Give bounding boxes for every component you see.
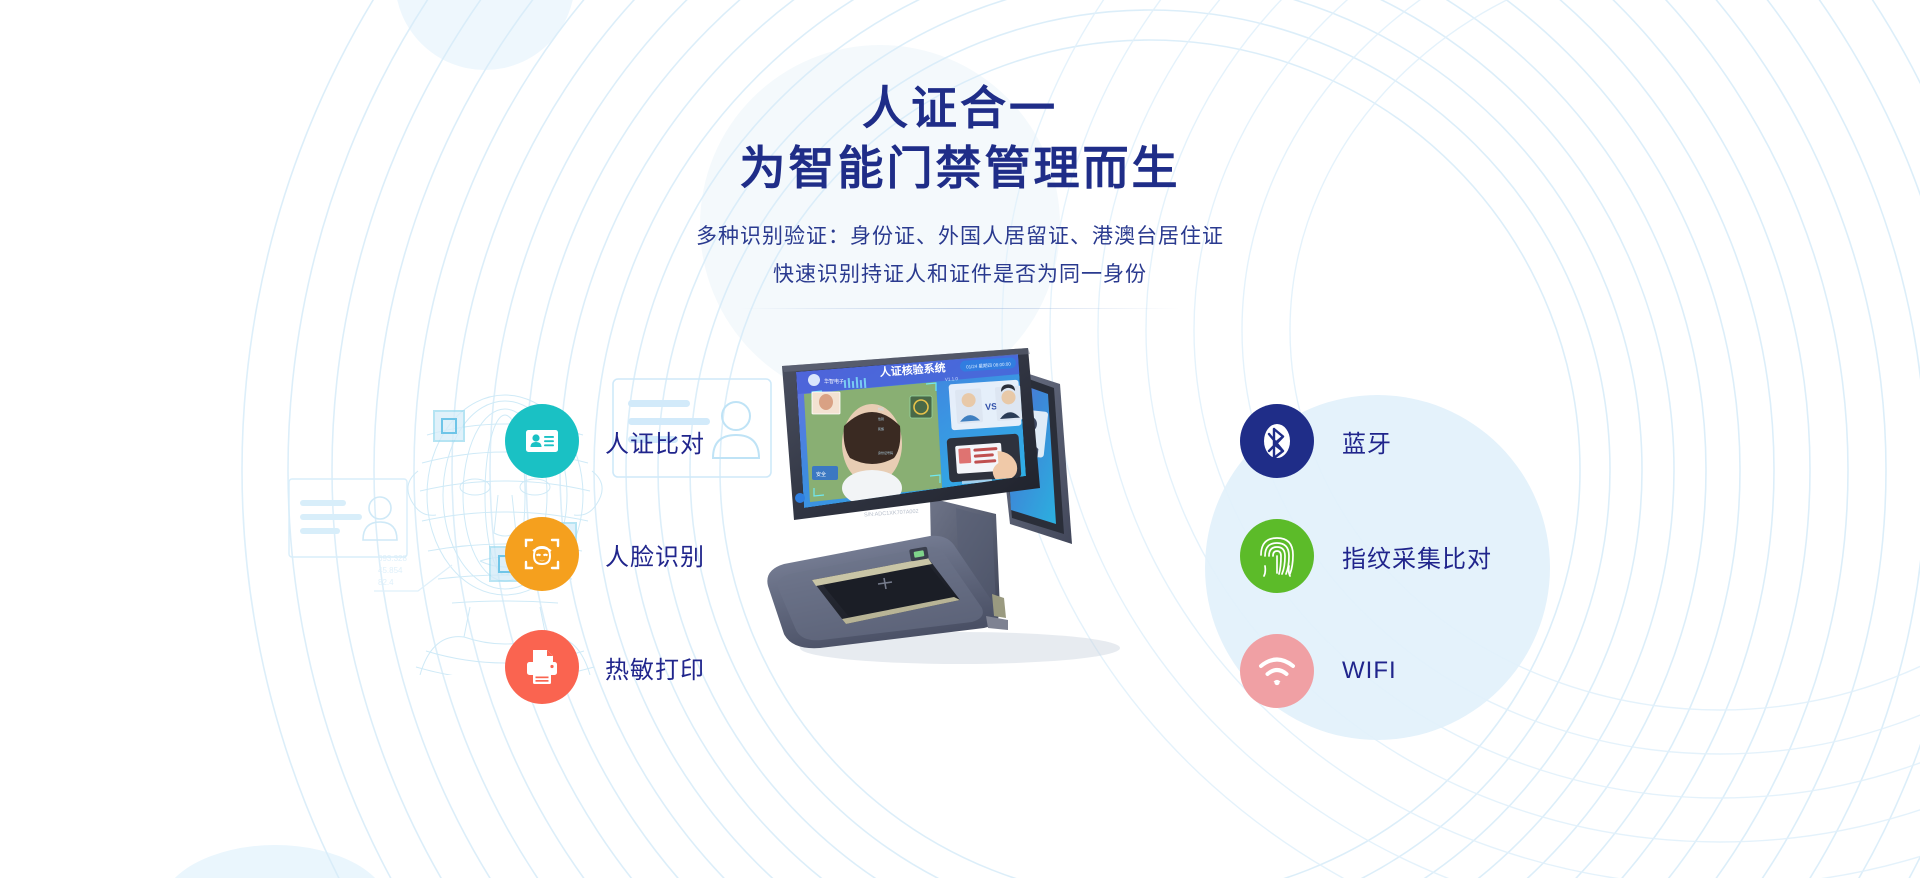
subtitle-line-1: 多种识别验证：身份证、外国人居留证、港澳台居住证 <box>0 218 1920 256</box>
subtitle-line-2: 快速识别持证人和证件是否为同一身份 <box>0 256 1920 294</box>
header-divider <box>740 308 1180 309</box>
svg-text:身份证号码: 身份证号码 <box>878 450 893 455</box>
svg-text:82.4: 82.4 <box>378 578 394 587</box>
feature-item-wifi[interactable]: WIFI <box>1240 634 1492 708</box>
feature-label: WIFI <box>1342 657 1397 685</box>
svg-text:安全: 安全 <box>816 471 826 478</box>
feature-list-left: 人证比对 <box>505 404 705 743</box>
device-illustration: 华智电子 人证核验系统 V1.1.0 01/24 星期四 08:00:00 <box>760 348 1180 668</box>
svg-text:华智电子: 华智电子 <box>824 378 844 385</box>
feature-item-bluetooth[interactable]: 蓝牙 <box>1240 404 1492 478</box>
id-card-outline-decoration <box>288 478 408 558</box>
feature-label: 蓝牙 <box>1342 424 1392 459</box>
hero-header: 人证合一 为智能门禁管理而生 多种识别验证：身份证、外国人居留证、港澳台居住证 … <box>0 78 1920 309</box>
page-title-line-2: 为智能门禁管理而生 <box>0 138 1920 198</box>
page-title-line-1: 人证合一 <box>0 78 1920 138</box>
face-scan-icon <box>505 517 579 591</box>
fingerprint-icon <box>1240 519 1314 593</box>
svg-text:姓名: 姓名 <box>878 406 884 411</box>
hero-subtitle: 多种识别验证：身份证、外国人居留证、港澳台居住证 快速识别持证人和证件是否为同一… <box>0 218 1920 294</box>
decorative-circle-top <box>395 0 575 70</box>
svg-text:V1.1.0: V1.1.0 <box>945 376 959 382</box>
feature-label: 人证比对 <box>605 424 705 459</box>
svg-text:45.854: 45.854 <box>378 566 403 575</box>
decorative-circle-bottom <box>160 845 390 878</box>
feature-label: 热敏打印 <box>605 650 705 685</box>
wifi-icon <box>1240 634 1314 708</box>
bluetooth-icon <box>1240 404 1314 478</box>
svg-text:民族: 民族 <box>878 426 884 431</box>
feature-item-thermal-print[interactable]: 热敏打印 <box>505 630 705 704</box>
id-card-icon <box>505 404 579 478</box>
svg-text:S/N:ADC1XK707A002: S/N:ADC1XK707A002 <box>864 509 919 519</box>
printer-icon <box>505 630 579 704</box>
feature-label: 指纹采集比对 <box>1342 539 1492 574</box>
hero-banner: 693.328 45.854 82.4 人证合一 <box>0 0 1920 878</box>
feature-item-id-compare[interactable]: 人证比对 <box>505 404 705 478</box>
svg-text:VS: VS <box>985 401 998 412</box>
feature-label: 人脸识别 <box>605 537 705 572</box>
svg-text:性别: 性别 <box>878 416 884 421</box>
feature-list-right: 蓝牙 指纹采集比对 <box>1240 404 1492 749</box>
feature-item-fingerprint[interactable]: 指纹采集比对 <box>1240 519 1492 593</box>
feature-item-face-recognition[interactable]: 人脸识别 <box>505 517 705 591</box>
